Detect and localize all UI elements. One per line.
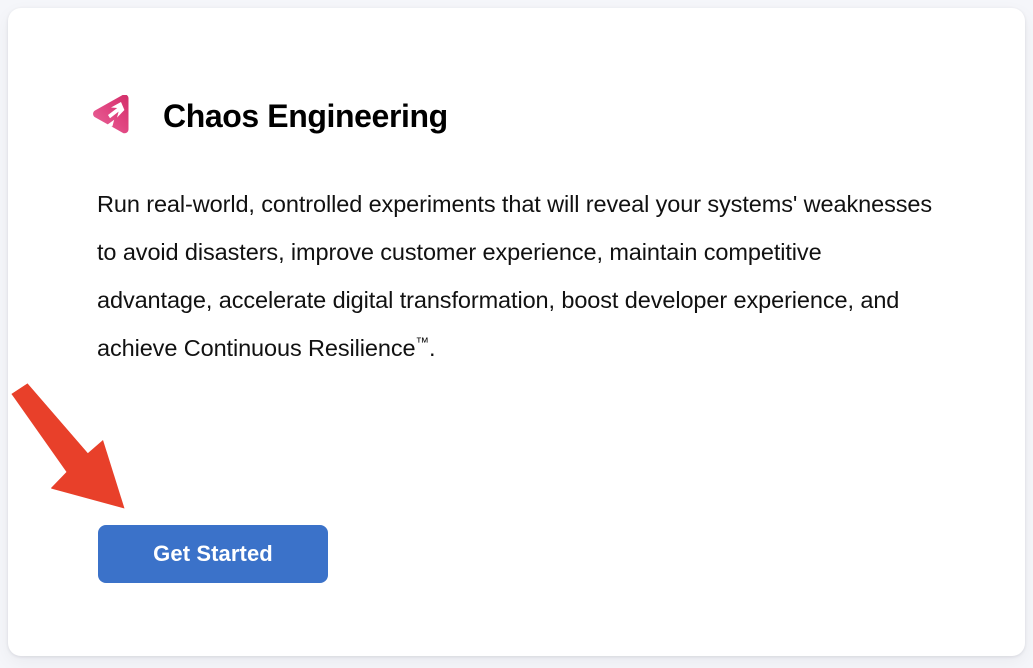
description-lead: Run real-world, controlled experiments t… — [97, 191, 932, 361]
description-text: Run real-world, controlled experiments t… — [97, 180, 942, 372]
screen: Chaos Engineering Run real-world, contro… — [0, 0, 1033, 668]
page-title: Chaos Engineering — [132, 95, 448, 137]
chaos-engineering-logo-icon — [90, 95, 132, 137]
description-trailing: . — [429, 335, 435, 361]
trademark-symbol: ™ — [415, 335, 429, 350]
get-started-button[interactable]: Get Started — [98, 525, 328, 583]
content-card: Chaos Engineering Run real-world, contro… — [8, 8, 1025, 656]
card-header: Chaos Engineering — [90, 92, 448, 140]
